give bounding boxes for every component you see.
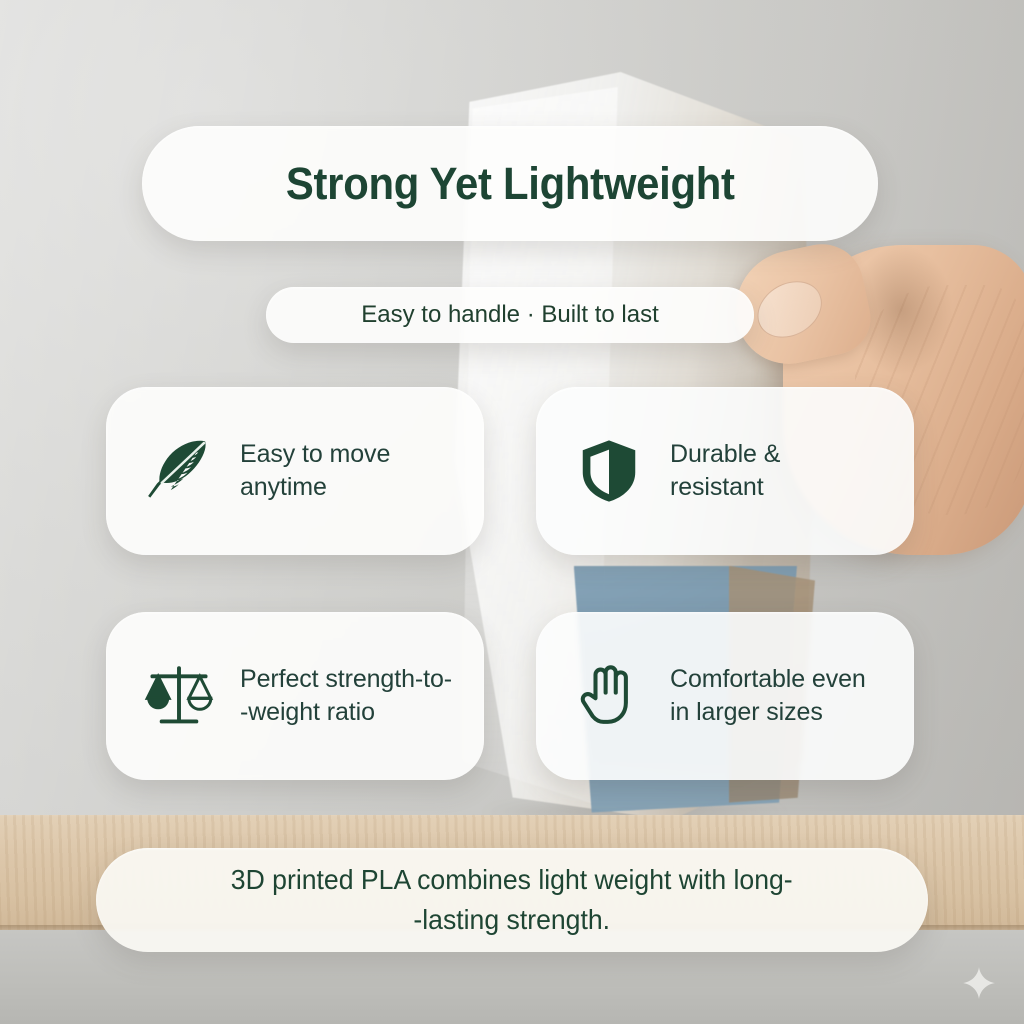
open-hand-icon — [566, 653, 652, 739]
page-title: Strong Yet Lightweight — [286, 158, 735, 210]
title-banner: Strong Yet Lightweight — [142, 126, 878, 241]
feature-card-durable-resistant[interactable]: Durable & resistant — [536, 387, 914, 555]
feature-card-comfortable-sizes[interactable]: Comfortable even in larger sizes — [536, 612, 914, 780]
feature-label: Comfortable even in larger sizes — [670, 663, 866, 730]
footer-line1: 3D printed PLA combines light weight wit… — [231, 864, 793, 895]
sparkle-icon — [962, 966, 996, 1000]
footer-text: 3D printed PLA combines light weight wit… — [231, 860, 793, 940]
feature-label-line2: in larger sizes — [670, 698, 823, 726]
feature-label: Durable & resistant — [670, 438, 780, 505]
footer-banner: 3D printed PLA combines light weight wit… — [96, 848, 928, 952]
feature-label: Easy to move anytime — [240, 438, 390, 505]
feature-label-line1: Easy to move — [240, 440, 390, 468]
product-feature-poster: Strong Yet Lightweight Easy to handle · … — [0, 0, 1024, 1024]
feather-icon — [136, 428, 222, 514]
feature-card-easy-to-move[interactable]: Easy to move anytime — [106, 387, 484, 555]
subtitle-banner: Easy to handle · Built to last — [266, 287, 754, 343]
feature-label-line1: Comfortable even — [670, 665, 866, 693]
footer-line2: -lasting strength. — [414, 904, 611, 935]
feature-label-line1: Durable & — [670, 440, 780, 468]
page-subtitle: Easy to handle · Built to last — [361, 301, 659, 329]
thumbnail — [747, 270, 832, 349]
balance-scale-icon — [136, 653, 222, 739]
feature-label-line1: Perfect strength-to- — [240, 665, 452, 693]
feature-label-line2: resistant — [670, 473, 764, 501]
hand-shadow — [853, 235, 973, 385]
feature-label-line2: -weight ratio — [240, 698, 375, 726]
feature-label: Perfect strength-to- -weight ratio — [240, 663, 452, 730]
shield-icon — [566, 428, 652, 514]
feature-card-strength-to-weight[interactable]: Perfect strength-to- -weight ratio — [106, 612, 484, 780]
feature-label-line2: anytime — [240, 473, 327, 501]
